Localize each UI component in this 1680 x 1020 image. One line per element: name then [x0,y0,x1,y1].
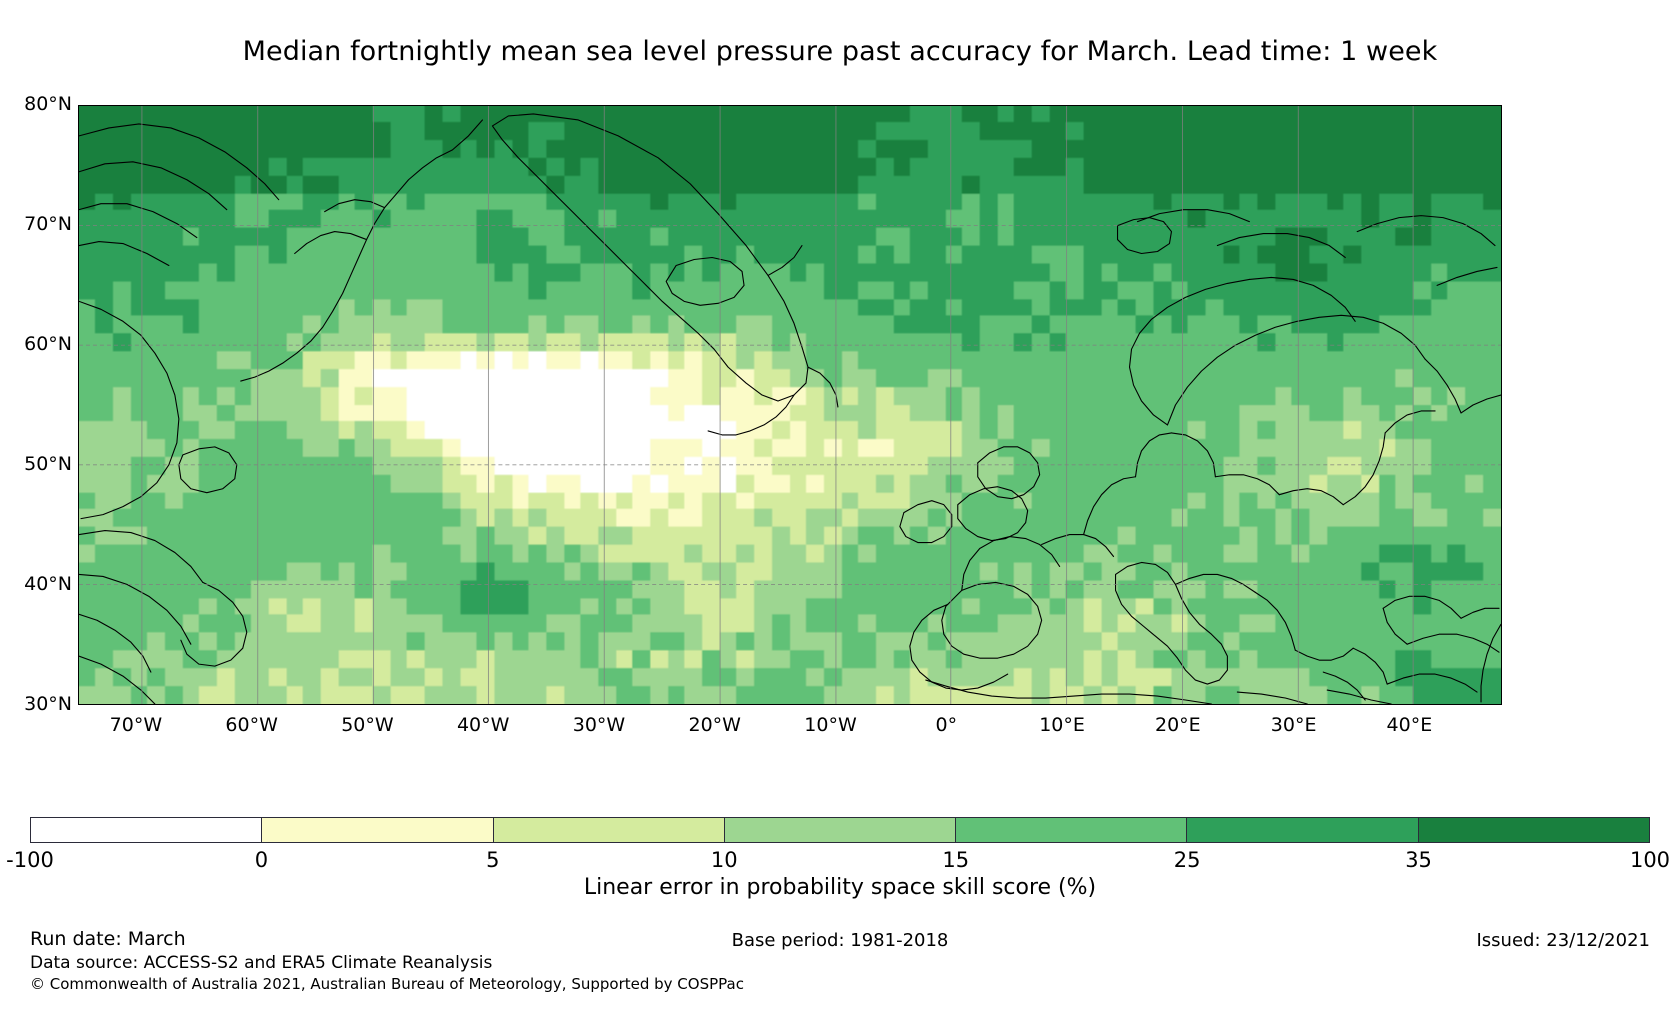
colorbar-segment [1418,818,1649,842]
colorbar-tick-label: 5 [433,848,553,872]
colorbar-segment [724,818,955,842]
base-period-text: Base period: 1981-2018 [0,930,1680,951]
colorbar-label: Linear error in probability space skill … [0,875,1680,900]
latitude-tick-label: 60°N [10,333,72,355]
colorbar-tick-label: 0 [201,848,321,872]
colorbar-tick-label: -100 [0,848,90,872]
longitude-tick-label: 60°W [192,714,312,736]
colorbar-segment [31,818,261,842]
colorbar[interactable] [30,817,1650,843]
colorbar-segment [955,818,1186,842]
colorbar-segment [493,818,724,842]
colorbar-tick-label: 25 [1127,848,1247,872]
latitude-tick-label: 80°N [10,93,72,115]
longitude-tick-label: 40°E [1349,714,1469,736]
copyright-text: © Commonwealth of Australia 2021, Austra… [30,975,744,993]
longitude-tick-label: 50°W [307,714,427,736]
longitude-tick-label: 30°W [539,714,659,736]
longitude-tick-label: 20°W [655,714,775,736]
colorbar-segment [261,818,492,842]
longitude-tick-label: 10°W [771,714,891,736]
graticule-gridlines [79,106,1501,704]
page-title: Median fortnightly mean sea level pressu… [0,36,1680,67]
issued-date-text: Issued: 23/12/2021 [1476,930,1650,951]
latitude-tick-label: 50°N [10,453,72,475]
colorbar-tick-label: 15 [896,848,1016,872]
data-source-text: Data source: ACCESS-S2 and ERA5 Climate … [30,953,492,973]
longitude-tick-label: 70°W [76,714,196,736]
longitude-tick-label: 20°E [1118,714,1238,736]
longitude-tick-label: 30°E [1234,714,1354,736]
colorbar-tick-label: 100 [1590,848,1680,872]
colorbar-segment [1186,818,1417,842]
latitude-tick-label: 40°N [10,573,72,595]
latitude-tick-label: 30°N [10,693,72,715]
map-plot-area [78,105,1502,705]
longitude-tick-label: 40°W [423,714,543,736]
longitude-tick-label: 10°E [1002,714,1122,736]
colorbar-tick-label: 35 [1359,848,1479,872]
colorbar-tick-label: 10 [664,848,784,872]
longitude-tick-label: 0° [886,714,1006,736]
latitude-tick-label: 70°N [10,213,72,235]
